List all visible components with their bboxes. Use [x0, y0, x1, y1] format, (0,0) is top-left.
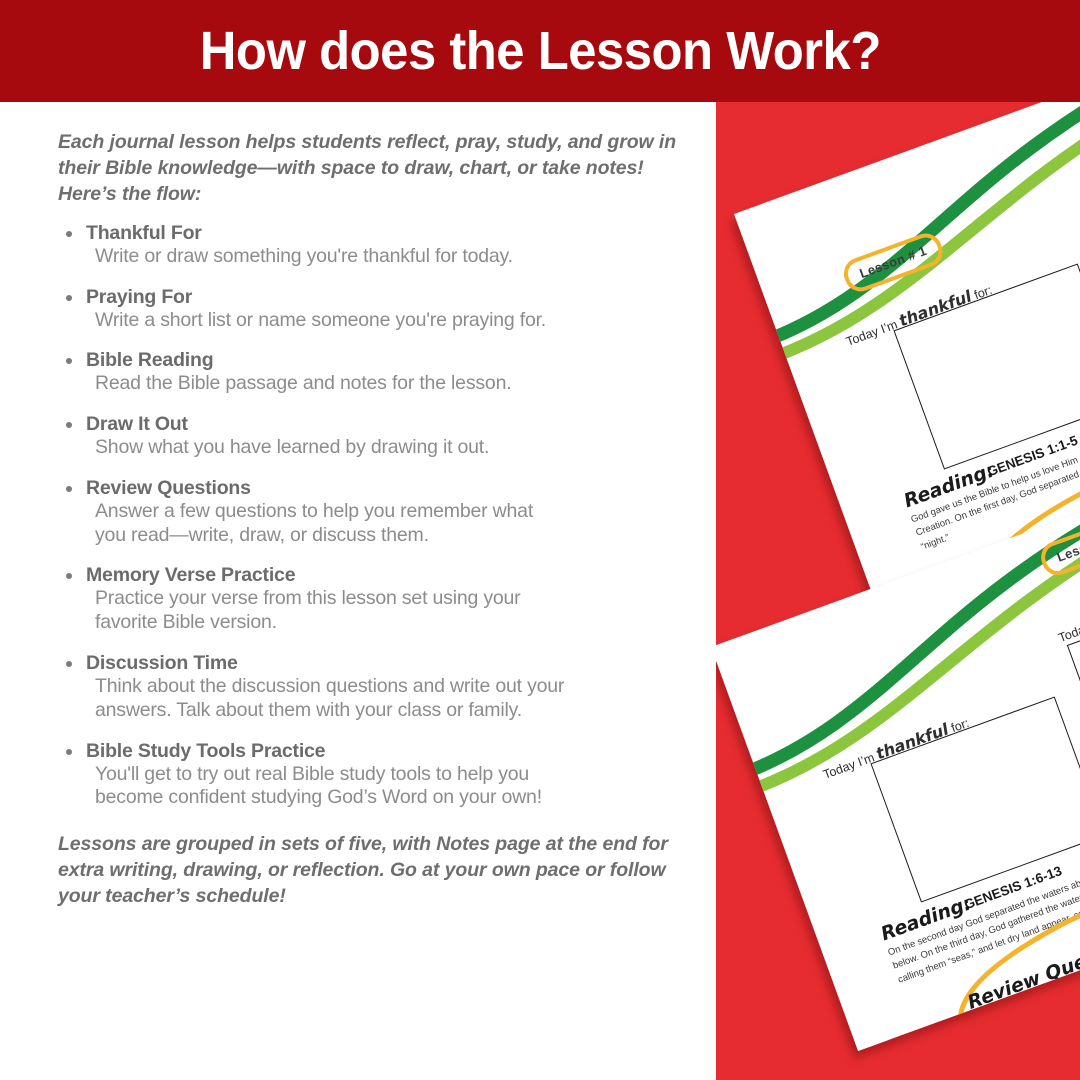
list-item: Praying For Write a short list or name s… — [58, 286, 698, 333]
step-description: Think about the discussion questions and… — [86, 675, 698, 723]
content-column: Each journal lesson helps students refle… — [0, 102, 716, 1080]
step-title: Praying For — [86, 286, 698, 309]
worksheet-preview-panel: Lesson # 1 Today I’m thankful for: Today… — [716, 102, 1080, 1080]
list-item: Memory Verse Practice Practice your vers… — [58, 564, 698, 635]
list-item: Review Questions Answer a few questions … — [58, 477, 698, 548]
bullet-icon — [66, 231, 72, 237]
step-description: Write or draw something you're thankful … — [86, 245, 698, 269]
bullet-icon — [66, 422, 72, 428]
steps-list: Thankful For Write or draw something you… — [58, 222, 698, 810]
step-title: Bible Reading — [86, 349, 698, 372]
list-item: Bible Reading Read the Bible passage and… — [58, 349, 698, 396]
step-description: Practice your verse from this lesson set… — [86, 587, 698, 635]
step-title: Discussion Time — [86, 652, 698, 675]
list-item: Bible Study Tools Practice You'll get to… — [58, 740, 698, 811]
bullet-icon — [66, 295, 72, 301]
intro-paragraph: Each journal lesson helps students refle… — [58, 130, 683, 208]
praying-label-prefix: Today I’m — [1057, 612, 1080, 645]
bullet-icon — [66, 486, 72, 492]
step-title: Memory Verse Practice — [86, 564, 698, 587]
step-description: Read the Bible passage and notes for the… — [86, 372, 698, 396]
bullet-icon — [66, 573, 72, 579]
lesson-number-label: Lesson # 1 — [858, 243, 929, 281]
poster-page: How does the Lesson Work? Each journal l… — [0, 0, 1080, 1080]
step-title: Thankful For — [86, 222, 698, 245]
lesson-number-badge: Lesson # 1 — [839, 229, 947, 296]
list-item: Discussion Time Think about the discussi… — [58, 652, 698, 723]
bullet-icon — [66, 661, 72, 667]
step-description: Show what you have learned by drawing it… — [86, 436, 698, 460]
praying-field-label: Today I’m praying for: — [1055, 578, 1080, 646]
step-description: Write a short list or name someone you'r… — [86, 309, 698, 333]
step-title: Review Questions — [86, 477, 698, 500]
header-band: How does the Lesson Work? — [0, 0, 1080, 102]
step-description: Answer a few questions to help you remem… — [86, 500, 698, 548]
step-title: Bible Study Tools Practice — [86, 740, 698, 763]
step-title: Draw It Out — [86, 413, 698, 436]
list-item: Thankful For Write or draw something you… — [58, 222, 698, 269]
outro-paragraph: Lessons are grouped in sets of five, wit… — [58, 832, 683, 910]
bullet-icon — [66, 749, 72, 755]
step-description: You'll get to try out real Bible study t… — [86, 763, 698, 811]
lesson-number-label: Lesson # 2 — [1055, 527, 1080, 565]
page-title: How does the Lesson Work? — [199, 20, 880, 82]
bullet-icon — [66, 358, 72, 364]
list-item: Draw It Out Show what you have learned b… — [58, 413, 698, 460]
